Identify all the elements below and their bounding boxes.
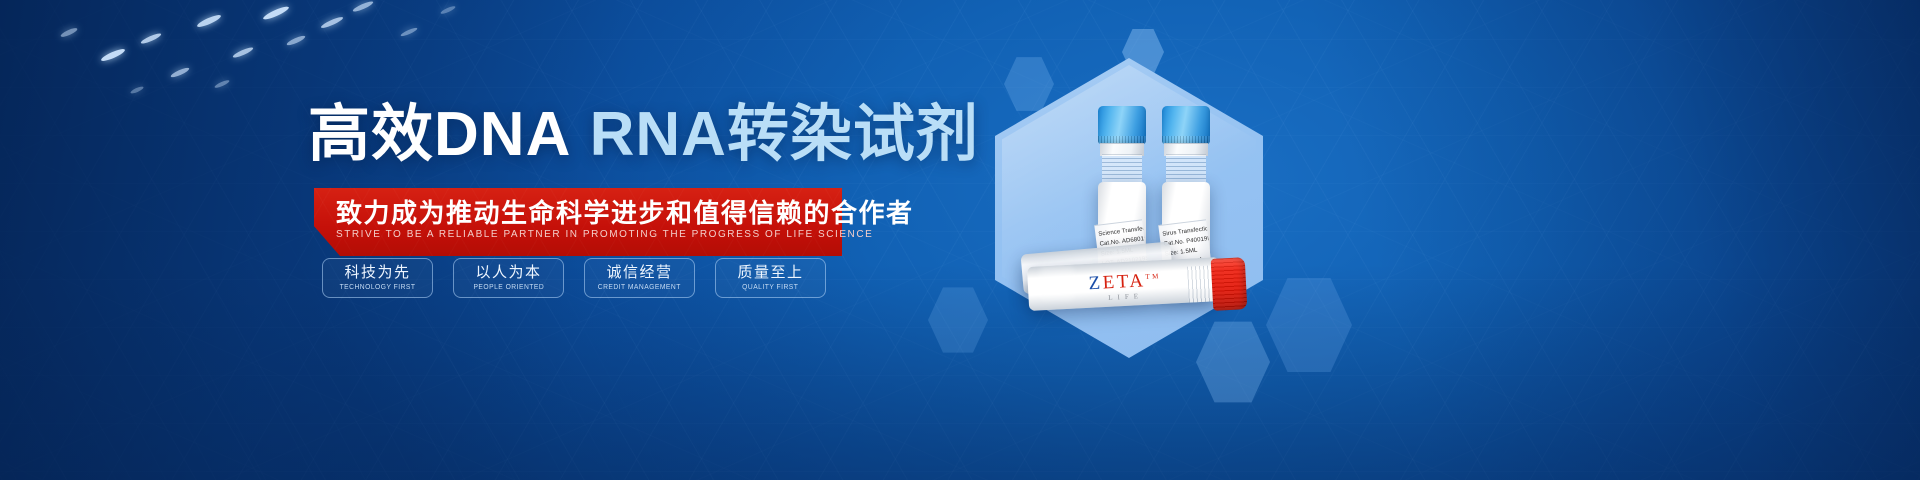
title-segment-cn-1: 高效 — [308, 100, 434, 169]
brand-logo: ZETATM LIFE — [1069, 265, 1181, 305]
tagline-chinese: 致力成为推动生命科学进步和值得信赖的合作者 — [336, 196, 836, 230]
pill-label-cn: 科技为先 — [344, 264, 410, 282]
brand-name-rest: ETA — [1102, 270, 1146, 293]
feature-pill-quality-first[interactable]: 质量至上 QUALITY FIRST — [715, 258, 826, 298]
tagline-english: STRIVE TO BE A RELIABLE PARTNER IN PROMO… — [336, 228, 836, 242]
vial-right-cap-icon — [1162, 106, 1210, 144]
pill-label-en: PEOPLE ORIENTED — [473, 283, 544, 293]
product-image: Science Transfection Cat.No. AD68019 Siz… — [980, 0, 1920, 480]
page-title: 高效DNA RNA转染试剂 — [308, 100, 979, 170]
title-segment-rna: RNA — [590, 100, 727, 169]
feature-pill-list: 科技为先 TECHNOLOGY FIRST 以人为本 PEOPLE ORIENT… — [322, 258, 826, 298]
feature-pill-technology-first[interactable]: 科技为先 TECHNOLOGY FIRST — [322, 258, 433, 298]
vial-left-cap-icon — [1098, 106, 1146, 144]
pill-label-en: TECHNOLOGY FIRST — [340, 283, 416, 293]
text-content-block: 高效DNA RNA转染试剂 致力成为推动生命科学进步和值得信赖的合作者 STRI… — [0, 0, 1000, 480]
pill-label-cn: 质量至上 — [737, 264, 803, 282]
brand-name-initial: Z — [1088, 273, 1103, 295]
feature-pill-people-oriented[interactable]: 以人为本 PEOPLE ORIENTED — [453, 258, 564, 298]
pill-label-cn: 诚信经营 — [606, 264, 672, 282]
title-segment-cn-2: 转染试剂 — [727, 100, 979, 169]
vial-right-thread — [1166, 154, 1206, 184]
vial-left-thread — [1102, 154, 1142, 184]
trademark-symbol: TM — [1145, 272, 1161, 281]
pill-label-en: CREDIT MANAGEMENT — [598, 283, 681, 293]
vial-horizontal-front-red-cap-icon — [1211, 257, 1248, 311]
feature-pill-credit-management[interactable]: 诚信经营 CREDIT MANAGEMENT — [584, 258, 695, 298]
promo-banner: 高效DNA RNA转染试剂 致力成为推动生命科学进步和值得信赖的合作者 STRI… — [0, 0, 1920, 480]
pill-label-en: QUALITY FIRST — [742, 283, 798, 293]
title-segment-dna: DNA — [434, 100, 571, 169]
vial-highlight-strip — [1040, 266, 1074, 300]
pill-label-cn: 以人为本 — [475, 264, 541, 282]
